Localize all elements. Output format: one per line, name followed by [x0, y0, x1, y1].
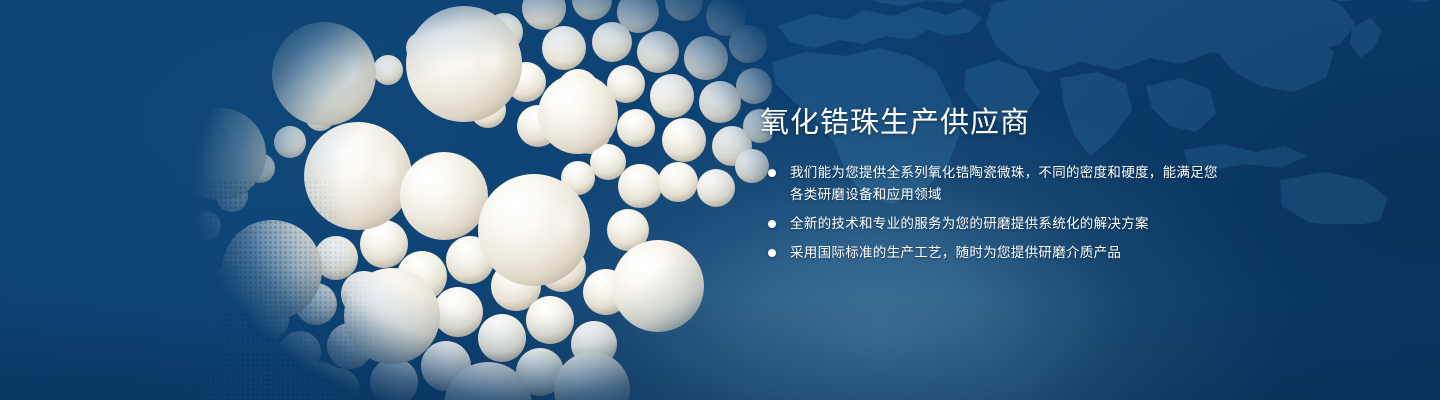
- banner-bullet-list: 我们能为您提供全系列氧化锆陶瓷微珠，不同的密度和硬度，能满足您各类研磨设备和应用…: [760, 162, 1230, 264]
- banner-copy: 氧化锆珠生产供应商 我们能为您提供全系列氧化锆陶瓷微珠，不同的密度和硬度，能满足…: [760, 104, 1230, 264]
- hero-banner: 氧化锆珠生产供应商 我们能为您提供全系列氧化锆陶瓷微珠，不同的密度和硬度，能满足…: [0, 0, 1440, 400]
- banner-headline: 氧化锆珠生产供应商: [760, 104, 1230, 142]
- bullet-dot-icon: [768, 220, 776, 228]
- bullet-item-1: 我们能为您提供全系列氧化锆陶瓷微珠，不同的密度和硬度，能满足您各类研磨设备和应用…: [760, 162, 1230, 206]
- bullet-item-3: 采用国际标准的生产工艺，随时为您提供研磨介质产品: [760, 242, 1230, 264]
- bullet-item-2: 全新的技术和专业的服务为您的研磨提供系统化的解决方案: [760, 213, 1230, 235]
- bullet-dot-icon: [768, 249, 776, 257]
- zirconia-beads-image: [92, 0, 772, 400]
- bullet-dot-icon: [768, 169, 776, 177]
- bullet-text: 采用国际标准的生产工艺，随时为您提供研磨介质产品: [790, 242, 1230, 264]
- bullet-text: 全新的技术和专业的服务为您的研磨提供系统化的解决方案: [790, 213, 1230, 235]
- bullet-text: 我们能为您提供全系列氧化锆陶瓷微珠，不同的密度和硬度，能满足您各类研磨设备和应用…: [790, 162, 1230, 206]
